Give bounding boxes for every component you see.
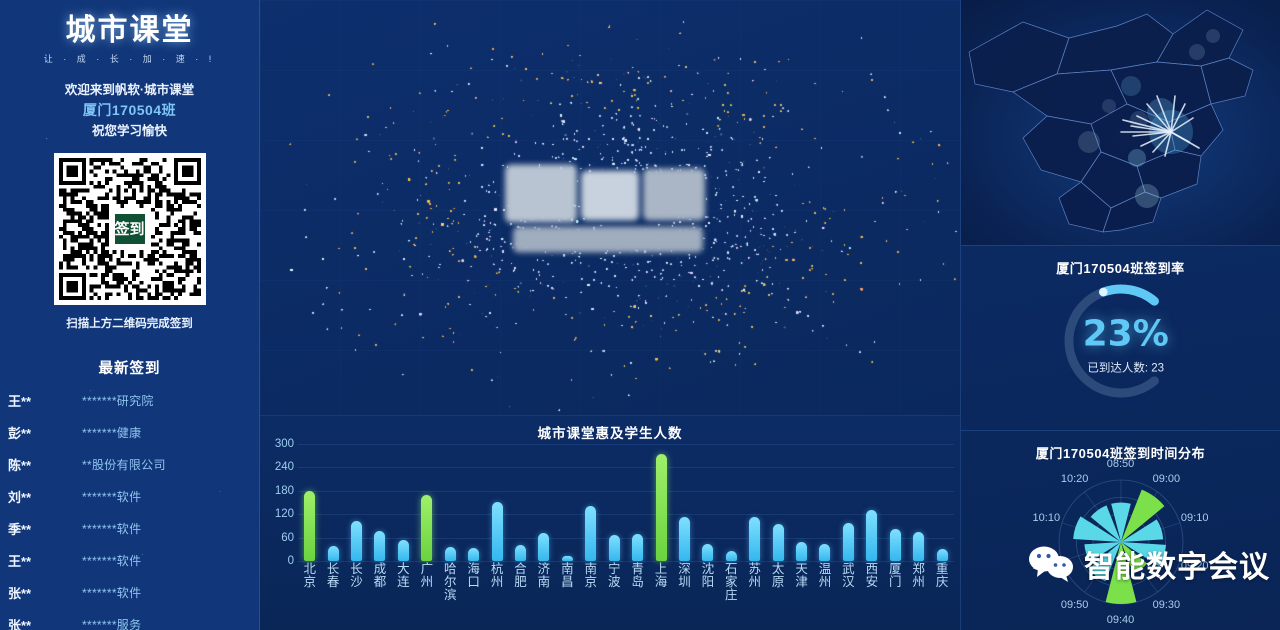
bar[interactable]: [445, 547, 456, 561]
bar-slot[interactable]: [579, 444, 602, 561]
x-axis-label: 天津: [790, 563, 813, 602]
checkin-row: 陈****股份有限公司: [0, 448, 259, 480]
bar[interactable]: [398, 540, 409, 561]
blur-block: [643, 168, 705, 220]
bar-slot[interactable]: [392, 444, 415, 561]
checkin-name: 张**: [8, 615, 64, 630]
latest-checkin-list: 王*********研究院彭*********健康陈****股份有限公司刘***…: [0, 384, 259, 630]
bar[interactable]: [866, 510, 877, 561]
rose-time-label: 10:20: [1061, 473, 1089, 485]
checkin-name: 张**: [8, 583, 64, 602]
rose-svg: [1006, 466, 1236, 621]
logo: 城市课堂 让 · 成 · 长 · 加 · 速 · !: [0, 0, 259, 65]
bar-slot[interactable]: [907, 444, 930, 561]
y-axis-tick: 120: [275, 508, 294, 520]
y-axis-tick: 0: [288, 555, 294, 567]
bar[interactable]: [538, 533, 549, 561]
checkin-org: *******软件: [64, 488, 255, 505]
x-axis-label: 济南: [532, 563, 555, 602]
bar-chart-plot-area: 060120180240300 北京长春长沙成都大连广州哈尔滨海口杭州合肥济南南…: [298, 444, 954, 630]
x-axis-label: 青岛: [626, 563, 649, 602]
x-axis-label: 长春: [321, 563, 344, 602]
sidebar: 城市课堂 让 · 成 · 长 · 加 · 速 · ! 欢迎来到帆软·城市课堂 厦…: [0, 0, 260, 630]
x-axis-label: 西安: [860, 563, 883, 602]
x-axis-label: 成都: [368, 563, 391, 602]
checkin-time-distribution-panel: 厦门170504班签到时间分布 08:5009:0009:1009:2009:3…: [961, 430, 1280, 630]
bar[interactable]: [890, 529, 901, 561]
bar[interactable]: [679, 517, 690, 561]
china-map: [961, 0, 1280, 245]
map-city-bubble: [1135, 184, 1159, 208]
logo-title: 城市课堂: [0, 14, 259, 48]
rose-time-label: 10:00: [1033, 560, 1061, 572]
bar-slot[interactable]: [743, 444, 766, 561]
checkin-row: 张*********软件: [0, 576, 259, 608]
particle-visualization-panel: [260, 0, 960, 415]
bar-slot[interactable]: [415, 444, 438, 561]
dashboard-root: 城市课堂 让 · 成 · 长 · 加 · 速 · ! 欢迎来到帆软·城市课堂 厦…: [0, 0, 1280, 630]
welcome-line-1: 欢迎来到帆软·城市课堂: [0, 81, 259, 100]
bar-chart-y-axis: 060120180240300: [260, 444, 294, 561]
checkin-org: *******服务: [64, 616, 255, 630]
bar-slot[interactable]: [556, 444, 579, 561]
bar-slot[interactable]: [720, 444, 743, 561]
bar[interactable]: [937, 549, 948, 561]
x-axis-label: 太原: [766, 563, 789, 602]
x-axis-label: 厦门: [884, 563, 907, 602]
qr-center-badge: 签到: [113, 212, 147, 246]
blur-block: [513, 226, 703, 252]
checkin-name: 季**: [8, 519, 64, 538]
center-column: 城市课堂惠及学生人数 060120180240300 北京长春长沙成都大连广州哈…: [260, 0, 960, 630]
checkin-rate-gauge: 23% 已到达人数: 23: [1036, 279, 1206, 407]
checkin-org: **股份有限公司: [64, 456, 255, 473]
rose-time-label: 09:10: [1181, 512, 1209, 524]
y-axis-tick: 300: [275, 438, 294, 450]
bar[interactable]: [585, 506, 596, 561]
qr-hint-text: 扫描上方二维码完成签到: [0, 315, 259, 331]
student-bar-chart-panel: 城市课堂惠及学生人数 060120180240300 北京长春长沙成都大连广州哈…: [260, 415, 960, 630]
checkin-org: *******软件: [64, 584, 255, 601]
x-axis-label: 哈尔滨: [439, 563, 462, 602]
bar-slot[interactable]: [462, 444, 485, 561]
bar-slot[interactable]: [509, 444, 532, 561]
gauge-title: 厦门170504班签到率: [961, 246, 1280, 277]
bar-slot[interactable]: [766, 444, 789, 561]
checkin-name: 王**: [8, 551, 64, 570]
bar-slot[interactable]: [298, 444, 321, 561]
bar[interactable]: [702, 544, 713, 561]
rose-time-label: 10:10: [1033, 512, 1061, 524]
bar[interactable]: [468, 548, 479, 561]
rose-time-label: 09:20: [1181, 560, 1209, 572]
welcome-class-name: 厦门170504班: [0, 100, 259, 122]
y-axis-tick: 180: [275, 485, 294, 497]
rose-time-label: 09:50: [1061, 599, 1089, 611]
x-axis-label: 石家庄: [720, 563, 743, 602]
blur-block: [505, 164, 577, 222]
x-axis-label: 长沙: [345, 563, 368, 602]
x-axis-label: 南昌: [556, 563, 579, 602]
rose-time-label: 09:30: [1153, 599, 1181, 611]
bar-slot[interactable]: [626, 444, 649, 561]
checkin-row: 王*********研究院: [0, 384, 259, 416]
checkin-qr-code[interactable]: 签到: [54, 153, 206, 305]
checkin-name: 陈**: [8, 455, 64, 474]
x-axis-label: 苏州: [743, 563, 766, 602]
bar[interactable]: [351, 521, 362, 561]
rose-time-label: 09:00: [1153, 473, 1181, 485]
right-column: 厦门170504班签到率 23% 已到达人数: 23 厦门170504班签到时间…: [960, 0, 1280, 630]
blurred-center-text: [505, 160, 715, 255]
checkin-org: *******软件: [64, 552, 255, 569]
checkin-name: 刘**: [8, 487, 64, 506]
latest-checkin-title: 最新签到: [0, 357, 259, 378]
gauge-arrived-count: 已到达人数: 23: [1061, 359, 1191, 375]
y-axis-tick: 60: [281, 532, 294, 544]
bar-slot[interactable]: [602, 444, 625, 561]
bar-slot[interactable]: [930, 444, 953, 561]
bar-slot[interactable]: [368, 444, 391, 561]
x-axis-label: 南京: [579, 563, 602, 602]
bar-slot[interactable]: [790, 444, 813, 561]
x-axis-label: 杭州: [485, 563, 508, 602]
checkin-org: *******健康: [64, 424, 255, 441]
bar[interactable]: [726, 551, 737, 561]
checkin-name: 彭**: [8, 423, 64, 442]
gauge-percent-value: 23%: [1061, 316, 1191, 352]
blur-block: [581, 170, 639, 220]
logo-subtitle: 让 · 成 · 长 · 加 · 速 · !: [0, 52, 259, 65]
checkin-row: 彭*********健康: [0, 416, 259, 448]
checkin-rate-panel: 厦门170504班签到率 23% 已到达人数: 23: [961, 245, 1280, 430]
checkin-time-rose-chart: 08:5009:0009:1009:2009:3009:4009:5010:00…: [1006, 466, 1236, 621]
x-axis-label: 北京: [298, 563, 321, 602]
checkin-org: *******研究院: [64, 392, 255, 409]
x-axis-label: 大连: [392, 563, 415, 602]
bar-chart-x-axis: 北京长春长沙成都大连广州哈尔滨海口杭州合肥济南南昌南京宁波青岛上海深圳沈阳石家庄…: [298, 563, 954, 602]
x-axis-label: 合肥: [509, 563, 532, 602]
checkin-name: 王**: [8, 391, 64, 410]
checkin-row: 王*********软件: [0, 544, 259, 576]
bar[interactable]: [374, 531, 385, 561]
bar-slot[interactable]: [696, 444, 719, 561]
x-axis-label: 武汉: [837, 563, 860, 602]
map-city-bubble: [1121, 76, 1141, 96]
bar-slot[interactable]: [837, 444, 860, 561]
checkin-org: *******软件: [64, 520, 255, 537]
bar-chart-title: 城市课堂惠及学生人数: [260, 422, 960, 442]
welcome-block: 欢迎来到帆软·城市课堂 厦门170504班 祝您学习愉快: [0, 81, 259, 141]
x-axis-label: 温州: [813, 563, 836, 602]
rose-time-label: 08:50: [1107, 458, 1135, 470]
china-map-panel: [961, 0, 1280, 245]
rose-time-label: 09:40: [1107, 614, 1135, 626]
x-axis-label: 广州: [415, 563, 438, 602]
bar-slot[interactable]: [345, 444, 368, 561]
bar[interactable]: [656, 454, 667, 561]
bar-slot[interactable]: [485, 444, 508, 561]
map-city-bubble: [1078, 131, 1100, 153]
bar[interactable]: [421, 495, 432, 561]
gauge-head-dot: [1099, 288, 1107, 296]
x-axis-label: 重庆: [930, 563, 953, 602]
gauge-readout: 23% 已到达人数: 23: [1061, 316, 1191, 375]
bar[interactable]: [796, 542, 807, 561]
x-axis-label: 深圳: [673, 563, 696, 602]
bar[interactable]: [492, 502, 503, 561]
bar[interactable]: [632, 534, 643, 561]
x-axis-label: 海口: [462, 563, 485, 602]
y-axis-tick: 240: [275, 461, 294, 473]
bar-slot[interactable]: [673, 444, 696, 561]
bar-slot[interactable]: [439, 444, 462, 561]
bar-slot[interactable]: [649, 444, 672, 561]
bar-chart-bars: [298, 444, 954, 561]
map-city-bubble: [1206, 29, 1220, 43]
bar-slot[interactable]: [884, 444, 907, 561]
x-axis-label: 宁波: [602, 563, 625, 602]
x-axis-label: 上海: [649, 563, 672, 602]
checkin-row: 季*********软件: [0, 512, 259, 544]
bar-slot[interactable]: [532, 444, 555, 561]
bar-slot[interactable]: [321, 444, 344, 561]
checkin-row: 张*********服务: [0, 608, 259, 630]
gauge-arc: [1103, 289, 1154, 301]
bar[interactable]: [749, 517, 760, 561]
map-city-bubble: [1128, 149, 1146, 167]
bar[interactable]: [773, 524, 784, 561]
bar-slot[interactable]: [813, 444, 836, 561]
map-city-bubble: [1102, 99, 1116, 113]
bar[interactable]: [328, 546, 339, 561]
bar[interactable]: [913, 532, 924, 561]
bar[interactable]: [562, 556, 573, 561]
map-city-bubble: [1189, 44, 1205, 60]
bar[interactable]: [515, 545, 526, 561]
bar[interactable]: [304, 491, 315, 561]
x-axis-label: 郑州: [907, 563, 930, 602]
welcome-line-3: 祝您学习愉快: [0, 122, 259, 141]
bar[interactable]: [843, 523, 854, 561]
checkin-row: 刘*********软件: [0, 480, 259, 512]
bar[interactable]: [609, 535, 620, 561]
bar-slot[interactable]: [860, 444, 883, 561]
bar[interactable]: [819, 544, 830, 561]
x-axis-label: 沈阳: [696, 563, 719, 602]
